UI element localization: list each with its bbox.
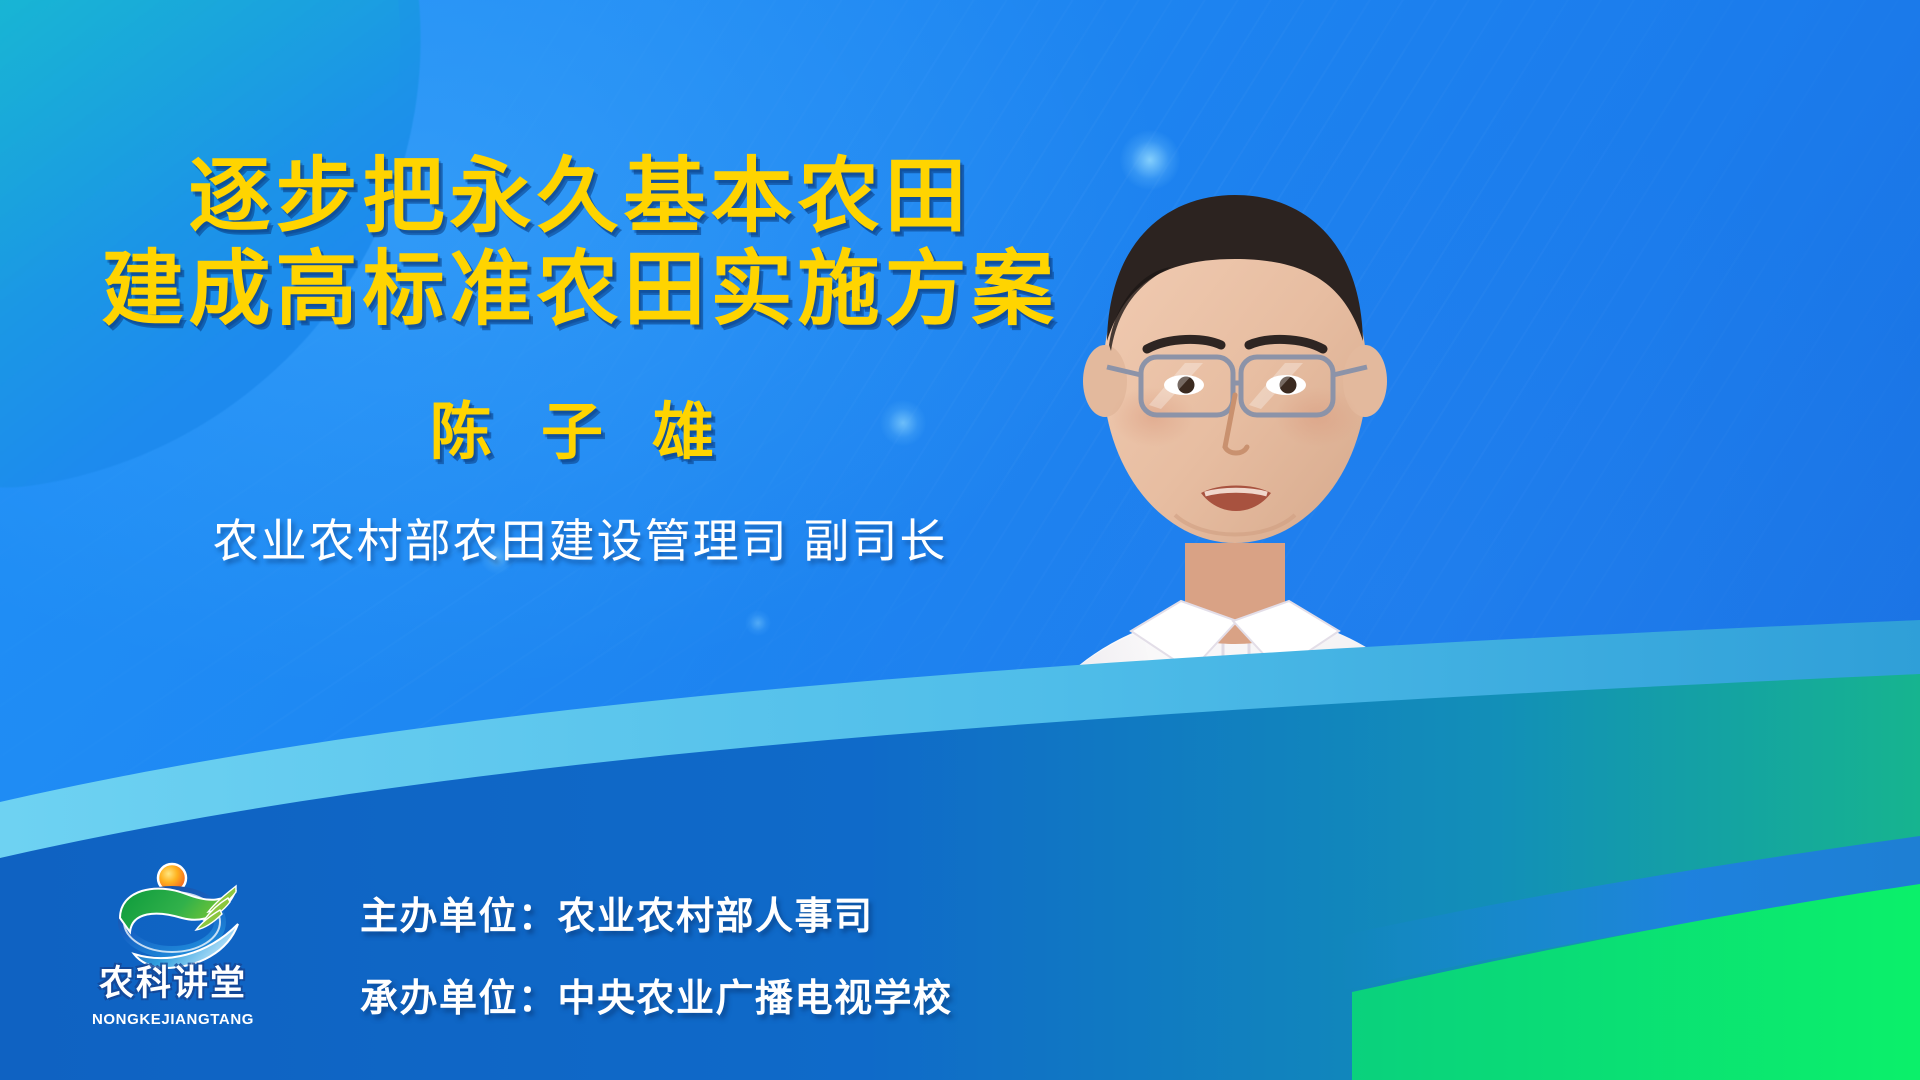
footer-executing-organization: 承办单位：中央农业广播电视学校 bbox=[360, 980, 1260, 1018]
logo-title: 农科讲堂 bbox=[78, 955, 268, 1006]
logo-pinyin: NONGKEJIANGTANG bbox=[78, 1011, 268, 1028]
speaker-role: 农业农村部农田建设管理司 副司长 bbox=[0, 505, 1160, 571]
headline-block: 逐步把永久基本农田 建成高标准农田实施方案 陈 子 雄 农业农村部农田建设管理司… bbox=[0, 150, 1160, 571]
slide-title-line-2: 建成高标准农田实施方案 bbox=[0, 243, 1160, 336]
speaker-name: 陈 子 雄 bbox=[0, 381, 1160, 471]
program-logo: 农科讲堂 NONGKEJIANGTANG bbox=[78, 860, 268, 1032]
footer-host-organization: 主办单位：农业农村部人事司 bbox=[360, 898, 1260, 936]
slide-title-line-1: 逐步把永久基本农田 bbox=[0, 150, 1160, 243]
footer-organizers: 主办单位：农业农村部人事司 承办单位：中央农业广播电视学校 bbox=[360, 898, 1260, 1018]
presentation-slide: 逐步把永久基本农田 建成高标准农田实施方案 陈 子 雄 农业农村部农田建设管理司… bbox=[0, 0, 1920, 1080]
